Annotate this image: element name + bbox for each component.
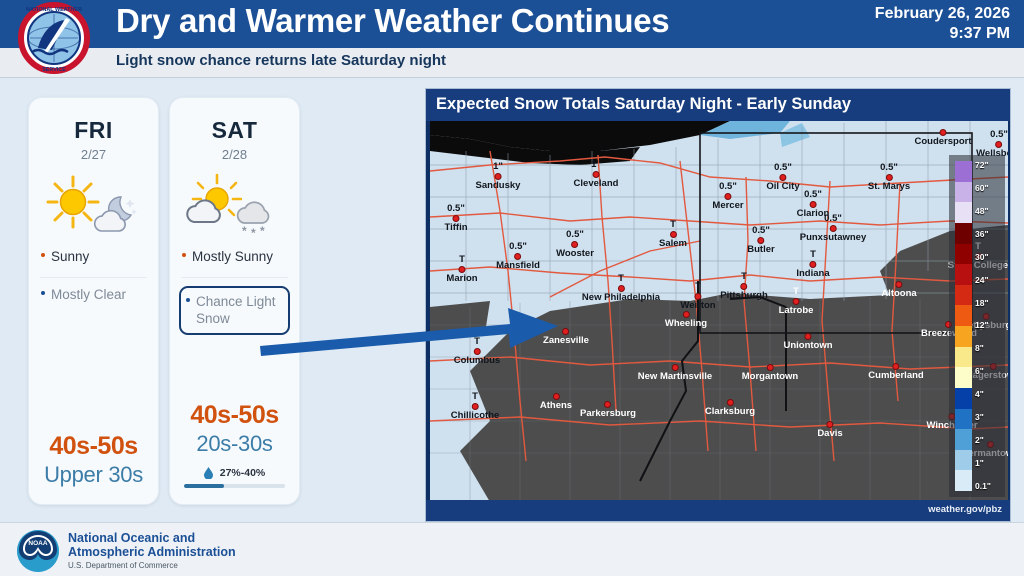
city-snow-amount: 0.5" — [496, 241, 540, 252]
city-marker: 0.5"Mercer — [712, 181, 743, 211]
city-marker: Davis — [817, 421, 842, 439]
legend-color-segment — [955, 409, 972, 430]
city-dot-icon — [741, 283, 748, 290]
map-credit: weather.gov/pbz — [928, 504, 1002, 515]
city-marker: 0.5"Tiffin — [444, 203, 467, 233]
city-name: Athens — [540, 400, 572, 411]
map-footer-bar: weather.gov/pbz — [426, 500, 1011, 521]
legend-tick-label: 72" — [975, 161, 1004, 170]
city-marker: 0.5"Punxsutawney — [800, 213, 867, 243]
city-snow-amount: 0.5" — [800, 213, 867, 224]
city-marker: TLatrobe — [779, 286, 814, 316]
city-name: Punxsutawney — [800, 232, 867, 243]
city-dot-icon — [552, 393, 559, 400]
city-name: Tiffin — [444, 222, 467, 233]
city-dot-icon — [592, 171, 599, 178]
footer-agency-name: National Oceanic and Atmospheric Adminis… — [68, 531, 236, 559]
day-condition-block: Sunny — [29, 248, 158, 265]
city-name: New Philadelphia — [582, 292, 660, 303]
legend-tick-label: 2" — [975, 436, 1004, 445]
legend-color-segment — [955, 285, 972, 306]
city-marker: Parkersburg — [580, 401, 636, 419]
city-dot-icon — [515, 253, 522, 260]
header-time: 9:37 PM — [875, 24, 1010, 44]
city-name: Davis — [817, 428, 842, 439]
city-snow-amount: 0.5" — [766, 162, 799, 173]
city-name: Uniontown — [783, 340, 832, 351]
legend-color-segment — [955, 450, 972, 471]
svg-text:*: * — [251, 226, 256, 240]
city-name: Morgantown — [742, 371, 798, 382]
precip-bar — [184, 484, 285, 488]
legend-color-segment — [955, 470, 972, 491]
footer-agency-line2: Atmospheric Administration — [68, 545, 236, 559]
city-marker: TIndiana — [796, 249, 829, 279]
map-title-bar: Expected Snow Totals Saturday Night - Ea… — [426, 89, 1011, 121]
precip-block: 27%-40% — [170, 467, 299, 488]
svg-text:SERVICE: SERVICE — [42, 67, 66, 73]
city-name: New Martinsville — [638, 371, 712, 382]
city-marker: TPittsburgh — [720, 271, 768, 301]
date-time-block: February 26, 2026 9:37 PM — [875, 4, 1010, 44]
subheader-bar: Light snow chance returns late Saturday … — [0, 48, 1024, 78]
city-snow-amount: 1" — [574, 159, 619, 170]
city-snow-amount: 0.5" — [556, 229, 594, 240]
city-dot-icon — [458, 266, 465, 273]
legend-tick-label: 36" — [975, 230, 1004, 239]
city-name: Wooster — [556, 248, 594, 259]
city-snow-amount: T — [680, 281, 715, 292]
city-name: Parkersburg — [580, 408, 636, 419]
city-marker: 0.5"St. Marys — [868, 162, 910, 192]
city-marker: 0.5"Oil City — [766, 162, 799, 192]
precip-bar-fill — [184, 484, 224, 488]
city-dot-icon — [809, 261, 816, 268]
temperature-block: 40s-50s Upper 30s — [29, 432, 158, 488]
city-dot-icon — [895, 281, 902, 288]
legend-color-segment — [955, 264, 972, 285]
card-date-label: 2/28 — [170, 147, 299, 162]
card-day-label: SAT — [170, 117, 299, 144]
high-temp: 40s-50s — [170, 401, 299, 430]
city-marker: 1"Cleveland — [574, 159, 619, 189]
weather-briefing-slide: Dry and Warmer Weather Continues Februar… — [0, 0, 1024, 576]
city-marker: Athens — [540, 393, 572, 411]
city-marker: 0.5"Wooster — [556, 229, 594, 259]
legend-color-segment — [955, 161, 972, 182]
legend-color-segment — [955, 223, 972, 244]
temperature-block: 40s-50s 20s-30s 27%-40% — [170, 401, 299, 488]
city-dot-icon — [996, 141, 1003, 148]
card-day-label: FRI — [29, 117, 158, 144]
city-snow-amount: 0.5" — [712, 181, 743, 192]
city-snow-amount: 0.5" — [797, 189, 830, 200]
city-marker: TSalem — [659, 219, 687, 249]
day-condition-block: Mostly Sunny — [170, 248, 299, 265]
legend-colorbar — [955, 161, 972, 491]
legend-tick-label: 30" — [975, 253, 1004, 262]
city-snow-amount: 0.5" — [868, 162, 910, 173]
national-weather-service-logo: NATIONAL WEATHER SERVICE — [8, 2, 100, 74]
city-dot-icon — [940, 129, 947, 136]
legend-tick-label: 24" — [975, 276, 1004, 285]
city-dot-icon — [572, 241, 579, 248]
header-date: February 26, 2026 — [875, 4, 1010, 24]
city-name: Clarksburg — [705, 406, 755, 417]
city-snow-amount: T — [446, 254, 477, 265]
card-divider — [181, 277, 288, 278]
snow-cloud-icon: * * * — [232, 190, 284, 240]
city-snow-amount: 0.5" — [444, 203, 467, 214]
city-dot-icon — [617, 285, 624, 292]
high-temp: 40s-50s — [29, 432, 158, 461]
city-marker: Altoona — [881, 281, 916, 299]
legend-color-segment — [955, 429, 972, 450]
city-marker: TChillicothe — [451, 391, 500, 421]
subtitle: Light snow chance returns late Saturday … — [116, 52, 446, 69]
city-snow-amount: T — [582, 273, 660, 284]
water-drop-icon — [204, 467, 213, 479]
city-name: Coudersport — [915, 136, 972, 147]
low-temp: 20s-30s — [170, 431, 299, 457]
legend-tick-label: 6" — [975, 367, 1004, 376]
city-name: Chillicothe — [451, 410, 500, 421]
city-marker: Uniontown — [783, 333, 832, 351]
card-icon-row — [29, 168, 158, 246]
legend-tick-label: 48" — [975, 207, 1004, 216]
city-dot-icon — [452, 215, 459, 222]
card-icon-row: * * * — [170, 168, 299, 246]
city-name: Sandusky — [476, 180, 521, 191]
city-snow-amount: T — [796, 249, 829, 260]
city-marker: 0.5"Butler — [747, 225, 774, 255]
legend-tick-label: 3" — [975, 413, 1004, 422]
svg-text:*: * — [242, 224, 247, 238]
footer-department: U.S. Department of Commerce — [68, 561, 178, 570]
legend-color-segment — [955, 326, 972, 347]
city-snow-amount: 1" — [476, 161, 521, 172]
city-dot-icon — [695, 293, 702, 300]
city-dot-icon — [671, 364, 678, 371]
svg-text:NATIONAL WEATHER: NATIONAL WEATHER — [26, 7, 82, 13]
forecast-card-fri[interactable]: FRI 2/27 — [28, 97, 159, 505]
page-title: Dry and Warmer Weather Continues — [116, 2, 669, 40]
city-dot-icon — [604, 401, 611, 408]
city-dot-icon — [757, 237, 764, 244]
svg-text:NOAA: NOAA — [28, 540, 47, 547]
city-marker: 0.5"Mansfield — [496, 241, 540, 271]
city-name: Altoona — [881, 288, 916, 299]
city-marker: Clarksburg — [705, 399, 755, 417]
city-dot-icon — [779, 174, 786, 181]
city-name: Cumberland — [868, 370, 923, 381]
city-snow-amount: T — [659, 219, 687, 230]
city-marker: Wheeling — [665, 311, 707, 329]
day-condition: Mostly Sunny — [181, 248, 288, 265]
legend-color-segment — [955, 347, 972, 368]
city-name: Salem — [659, 238, 687, 249]
city-name: Weirton — [680, 300, 715, 311]
city-marker: 1"Sandusky — [476, 161, 521, 191]
city-name: Mercer — [712, 200, 743, 211]
card-date-label: 2/27 — [29, 147, 158, 162]
city-name: Latrobe — [779, 305, 814, 316]
city-name: Butler — [747, 244, 774, 255]
city-name: Oil City — [766, 181, 799, 192]
city-marker: Coudersport — [915, 129, 972, 147]
city-snow-amount: 0.5" — [747, 225, 774, 236]
precip-chance: 27%-40% — [220, 467, 266, 479]
city-dot-icon — [886, 174, 893, 181]
city-marker: Cumberland — [868, 363, 923, 381]
legend-color-segment — [955, 388, 972, 409]
day-condition: Sunny — [40, 248, 147, 265]
precip-row: 27%-40% — [184, 467, 285, 479]
moon-cloud-icon — [90, 192, 142, 238]
city-snow-amount: 0.5" — [976, 129, 1008, 140]
legend-tick-label: 4" — [975, 390, 1004, 399]
city-dot-icon — [804, 333, 811, 340]
city-dot-icon — [826, 421, 833, 428]
legend-color-segment — [955, 182, 972, 203]
city-dot-icon — [670, 231, 677, 238]
city-dot-icon — [893, 363, 900, 370]
city-dot-icon — [494, 173, 501, 180]
city-name: Cleveland — [574, 178, 619, 189]
night-condition: Mostly Clear — [40, 286, 147, 303]
city-snow-amount: T — [779, 286, 814, 297]
city-dot-icon — [830, 225, 837, 232]
footer-bar: NOAA National Oceanic and Atmospheric Ad… — [0, 522, 1024, 576]
legend-tick-label: 12" — [975, 321, 1004, 330]
legend-tick-label: 1" — [975, 459, 1004, 468]
city-snow-amount: T — [720, 271, 768, 282]
legend-tick-label: 60" — [975, 184, 1004, 193]
city-name: Pittsburgh — [720, 290, 768, 301]
city-dot-icon — [809, 201, 816, 208]
city-marker: TWeirton — [680, 281, 715, 311]
city-marker: TNew Philadelphia — [582, 273, 660, 303]
legend-color-segment — [955, 305, 972, 326]
city-dot-icon — [472, 403, 479, 410]
city-marker: New Martinsville — [638, 364, 712, 382]
city-name: Indiana — [796, 268, 829, 279]
header-bar: Dry and Warmer Weather Continues Februar… — [0, 0, 1024, 48]
snow-accumulation-legend: 72"60"48"36"30"24"18"12"8"6"4"3"2"1"0.1" — [949, 155, 1005, 497]
noaa-logo: NOAA — [16, 529, 60, 573]
city-marker: TMarion — [446, 254, 477, 284]
legend-labels: 72"60"48"36"30"24"18"12"8"6"4"3"2"1"0.1" — [975, 161, 1004, 491]
city-dot-icon — [767, 364, 774, 371]
city-dot-icon — [793, 298, 800, 305]
city-snow-amount: T — [451, 391, 500, 402]
legend-tick-label: 18" — [975, 299, 1004, 308]
city-name: Mansfield — [496, 260, 540, 271]
city-name: Marion — [446, 273, 477, 284]
card-divider — [40, 277, 147, 278]
svg-text:*: * — [260, 224, 265, 238]
callout-arrow — [258, 296, 578, 366]
legend-color-segment — [955, 367, 972, 388]
city-name: Wheeling — [665, 318, 707, 329]
city-dot-icon — [724, 193, 731, 200]
night-condition-block: Mostly Clear — [29, 286, 158, 303]
legend-color-segment — [955, 244, 972, 265]
low-temp: Upper 30s — [29, 462, 158, 488]
city-dot-icon — [682, 311, 689, 318]
legend-tick-label: 8" — [975, 344, 1004, 353]
city-name: St. Marys — [868, 181, 910, 192]
legend-tick-label: 0.1" — [975, 482, 1004, 491]
city-dot-icon — [727, 399, 734, 406]
legend-color-segment — [955, 202, 972, 223]
map-title: Expected Snow Totals Saturday Night - Ea… — [436, 95, 851, 114]
footer-agency-line1: National Oceanic and — [68, 531, 236, 545]
city-marker: Morgantown — [742, 364, 798, 382]
